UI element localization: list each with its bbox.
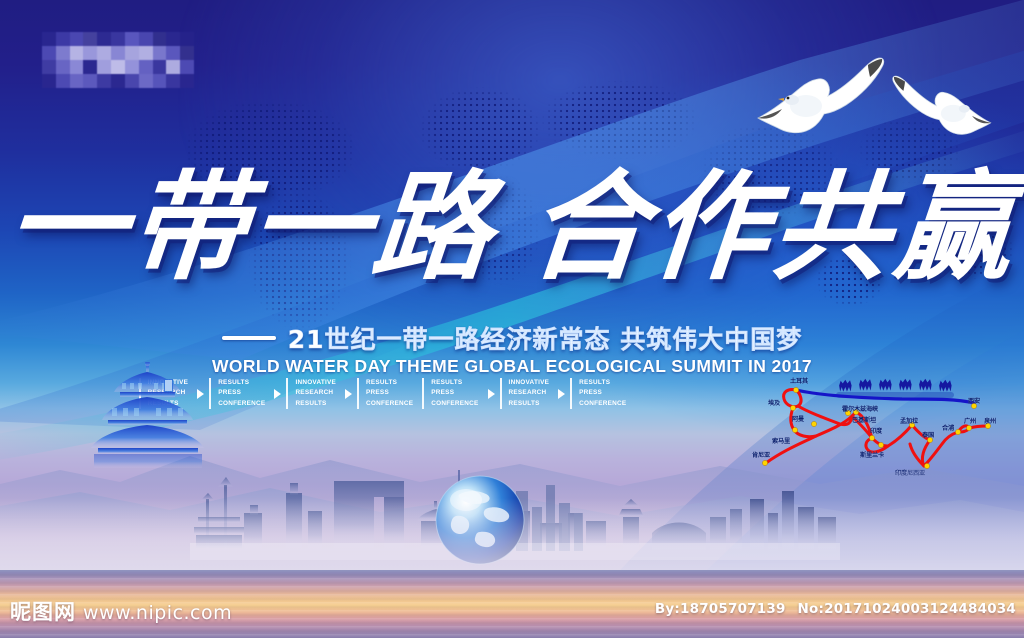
map-city-label: 埃及 xyxy=(768,398,780,407)
keyword-line: RESULTS xyxy=(366,378,413,388)
credit-author: By:18705707139 xyxy=(655,601,786,617)
map-city-label: 泉州 xyxy=(984,416,996,425)
subtitle-chinese: 21世纪一带一路经济新常态 共筑伟大中国梦 xyxy=(288,320,803,356)
poster-headline: 一带一路合作共赢 xyxy=(0,168,1024,286)
keyword-block: INNOVATIVERESEARCHRESULTS xyxy=(286,378,345,409)
map-city-label: 西安 xyxy=(968,396,980,405)
map-city-label: 巴基斯坦 xyxy=(852,415,876,424)
keyword-line: RESULTS xyxy=(218,378,265,388)
credit-info: By:18705707139 No:20171024003124484034 xyxy=(655,601,1016,617)
keyword-line: PRESS xyxy=(431,388,478,398)
keyword-line: RESULTS xyxy=(295,399,336,409)
keyword-block: INNOVATIVERESEARCHRESULTS xyxy=(500,378,559,409)
map-city-node xyxy=(811,421,816,426)
subtitle-chinese-row: 21世纪一带一路经济新常态 共筑伟大中国梦 xyxy=(0,320,1024,356)
keyword-arrow-icon xyxy=(274,389,281,399)
keyword-line: INNOVATIVE xyxy=(295,378,336,388)
map-city-label: 土耳其 xyxy=(790,376,808,385)
keyword-line: PRESS xyxy=(218,388,265,398)
headline-part-1: 一带一路 xyxy=(1,157,501,296)
poster-canvas: 一带一路合作共赢 21世纪一带一路经济新常态 共筑伟大中国梦 WORLD WAT… xyxy=(0,0,1024,638)
keyword-block: RESULTSPRESSCONFERENCE xyxy=(422,378,487,409)
map-city-node xyxy=(790,405,795,410)
camel-caravan-icon xyxy=(839,379,951,392)
keyword-line: RESULTS xyxy=(509,399,550,409)
map-city-label: 广州 xyxy=(964,416,976,425)
nipic-watermark: 昵图网 www.nipic.com xyxy=(10,596,232,626)
keyword-line: PRESS xyxy=(366,388,413,398)
keyword-line: PRESS xyxy=(579,388,626,398)
map-city-label: 阿曼 xyxy=(792,414,804,423)
keyword-line: INNOVATIVE xyxy=(509,378,550,388)
globe-illustration xyxy=(430,470,530,570)
keyword-arrow-icon xyxy=(558,389,565,399)
map-city-label: 孟加拉 xyxy=(900,416,918,425)
subtitle-rule-left xyxy=(222,336,276,340)
map-city-node xyxy=(793,387,798,392)
keyword-line: CONFERENCE xyxy=(431,399,478,409)
keyword-arrow-icon xyxy=(345,389,352,399)
nipic-url: www.nipic.com xyxy=(83,602,232,624)
credit-number: No:20171024003124484034 xyxy=(798,601,1016,617)
keyword-line: RESEARCH xyxy=(295,388,336,398)
keyword-block: RESULTSPRESSCONFERENCE xyxy=(209,378,274,409)
map-city-label: 霍尔木兹海峡 xyxy=(842,404,878,413)
keyword-block: RESULTSPRESSCONFERENCE xyxy=(570,378,635,409)
keyword-line: RESULTS xyxy=(579,378,626,388)
keyword-line: RESULTS xyxy=(431,378,478,388)
keyword-line: CONFERENCE xyxy=(218,399,265,409)
keyword-line: CONFERENCE xyxy=(579,399,626,409)
keyword-block: RESULTSPRESSCONFERENCE xyxy=(357,378,422,409)
blurred-logo-mosaic xyxy=(42,32,194,88)
keyword-line: CONFERENCE xyxy=(366,399,413,409)
keyword-line: RESEARCH xyxy=(509,388,550,398)
seagull-small xyxy=(893,76,991,134)
headline-part-2: 合作共赢 xyxy=(523,157,1023,296)
nipic-logo-cn: 昵图网 xyxy=(10,596,76,626)
seagulls-group xyxy=(740,40,1000,150)
keyword-arrow-icon xyxy=(488,389,495,399)
seagull-large xyxy=(758,58,884,133)
